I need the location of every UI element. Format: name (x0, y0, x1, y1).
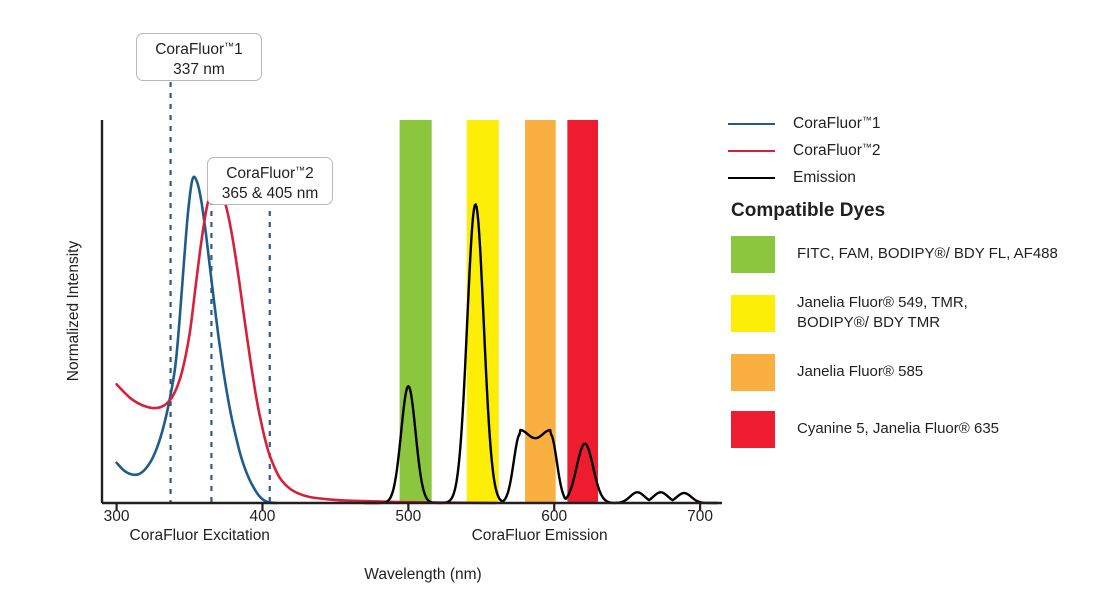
legend-row-1: CoraFluor™1 (728, 110, 1098, 137)
dye-color-swatch (731, 354, 775, 391)
legend-row-2: CoraFluor™2 (728, 137, 1098, 164)
dye-row-4: Cyanine 5, Janelia Fluor® 635 (731, 411, 1106, 448)
x-tick-label-600: 600 (524, 508, 584, 526)
legend-label: Emission (793, 169, 856, 187)
sublabel-excitation: CoraFluor Excitation (110, 527, 290, 545)
dye-label: FITC, FAM, BODIPY®/ BDY FL, AF488 (797, 244, 1058, 264)
dye-color-swatch (731, 295, 775, 332)
dye-band-green (400, 120, 432, 503)
dye-color-swatch (731, 236, 775, 273)
legend-line-swatch (728, 123, 775, 125)
callout2-value: 365 & 405 nm (218, 184, 322, 204)
callout1-title: CoraFluor™1 (147, 40, 251, 60)
dye-label: Janelia Fluor® 549, TMR,BODIPY®/ BDY TMR (797, 293, 968, 334)
curve-corafluor2 (117, 187, 496, 503)
dye-row-2: Janelia Fluor® 549, TMR,BODIPY®/ BDY TMR (731, 293, 1106, 334)
callout-corafluor1: CoraFluor™1 337 nm (136, 33, 262, 81)
dye-label: Cyanine 5, Janelia Fluor® 635 (797, 419, 999, 439)
legend-row-3: Emission (728, 164, 1098, 191)
legend-label: CoraFluor™2 (793, 142, 881, 160)
x-axis-label: Wavelength (nm) (313, 566, 533, 584)
legend-label: CoraFluor™1 (793, 115, 881, 133)
x-tick-label-700: 700 (670, 508, 730, 526)
dye-color-swatch (731, 411, 775, 448)
callout2-title: CoraFluor™2 (218, 164, 322, 184)
compatible-dyes-list: FITC, FAM, BODIPY®/ BDY FL, AF488Janelia… (731, 236, 1106, 468)
curve-corafluor1 (117, 177, 277, 503)
dye-row-1: FITC, FAM, BODIPY®/ BDY FL, AF488 (731, 236, 1106, 273)
callout1-value: 337 nm (147, 60, 251, 80)
chart-page: CoraFluor™1 337 nm CoraFluor™2 365 & 405… (0, 0, 1110, 612)
x-tick-label-400: 400 (232, 508, 292, 526)
y-axis-label: Normalized Intensity (65, 211, 83, 411)
series-legend: CoraFluor™1CoraFluor™2Emission (728, 110, 1098, 191)
dye-label: Janelia Fluor® 585 (797, 362, 923, 382)
callout-corafluor2: CoraFluor™2 365 & 405 nm (207, 157, 333, 205)
legend-line-swatch (728, 177, 775, 179)
compatible-dyes-title: Compatible Dyes (731, 200, 885, 222)
dye-band-orange (525, 120, 556, 503)
dye-row-3: Janelia Fluor® 585 (731, 354, 1106, 391)
x-tick-label-500: 500 (378, 508, 438, 526)
legend-line-swatch (728, 150, 775, 152)
x-tick-label-300: 300 (87, 508, 147, 526)
sublabel-emission: CoraFluor Emission (450, 527, 630, 545)
